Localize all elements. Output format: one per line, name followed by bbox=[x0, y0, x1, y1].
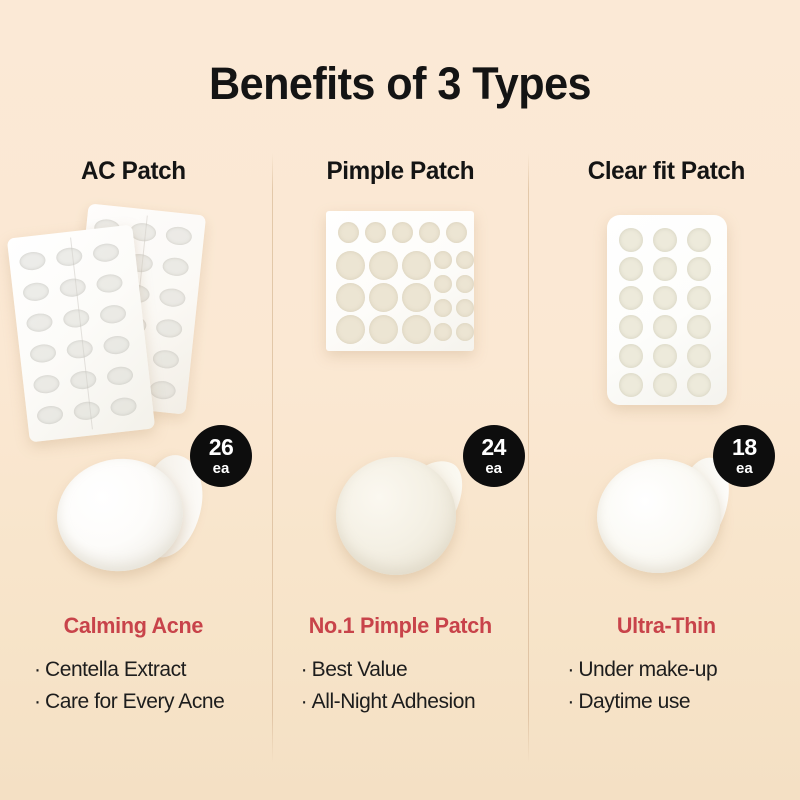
patch-dot bbox=[653, 228, 677, 252]
patch-dot bbox=[653, 373, 677, 397]
patch-dot bbox=[687, 315, 711, 339]
benefit-column-ac-patch: AC Patch 26 ea Cal bbox=[0, 145, 267, 765]
patch-dot bbox=[369, 283, 398, 312]
bullet-marker-icon: · bbox=[301, 686, 312, 718]
feature-bullet-list: ·Centella Extract ·Care for Every Acne bbox=[0, 654, 267, 718]
bullet-marker-icon: · bbox=[34, 654, 45, 686]
patch-dot bbox=[687, 257, 711, 281]
patch-dot bbox=[99, 304, 127, 325]
page-title: Benefits of 3 Types bbox=[16, 58, 784, 110]
patch-dot bbox=[55, 246, 83, 267]
list-item: ·Centella Extract bbox=[34, 654, 267, 686]
product-sheet-photo-ac-patch: 26 ea bbox=[0, 203, 267, 443]
count-badge-unit: ea bbox=[485, 461, 502, 476]
patch-dot bbox=[402, 315, 431, 344]
benefit-column-pimple-patch: Pimple Patch 24 ea No.1 Pimple Patch bbox=[267, 145, 534, 765]
patch-dot bbox=[36, 405, 64, 426]
count-badge-clear-fit-patch: 18 ea bbox=[713, 425, 775, 487]
bullet-marker-icon: · bbox=[567, 654, 578, 686]
patch-dot bbox=[62, 308, 90, 329]
bullet-marker-icon: · bbox=[34, 686, 45, 718]
patch-dot bbox=[336, 283, 365, 312]
patch-dot bbox=[26, 312, 54, 333]
patch-dot bbox=[687, 344, 711, 368]
patch-dot bbox=[653, 344, 677, 368]
patch-dot bbox=[66, 339, 94, 360]
patch-dot bbox=[456, 299, 474, 317]
feature-title: Calming Acne bbox=[3, 613, 264, 639]
list-item: ·Daytime use bbox=[567, 686, 800, 718]
feature-block-ac-patch: Calming Acne ·Centella Extract ·Care for… bbox=[0, 613, 267, 718]
patch-dot bbox=[22, 281, 50, 302]
patch-dot bbox=[73, 400, 101, 421]
patch-sheet bbox=[326, 211, 474, 351]
count-badge-number: 18 bbox=[732, 436, 757, 459]
patch-dot bbox=[434, 299, 452, 317]
feature-bullet-list: ·Best Value ·All-Night Adhesion bbox=[267, 654, 534, 718]
bullet-text: Under make-up bbox=[578, 658, 717, 681]
list-item: ·Care for Every Acne bbox=[34, 686, 267, 718]
patch-dot bbox=[165, 226, 193, 247]
list-item: ·All-Night Adhesion bbox=[301, 686, 534, 718]
column-header-pimple-patch: Pimple Patch bbox=[271, 157, 530, 186]
bullet-text: All-Night Adhesion bbox=[312, 690, 476, 713]
feature-block-pimple-patch: No.1 Pimple Patch ·Best Value ·All-Night… bbox=[267, 613, 534, 718]
patch-dot bbox=[687, 373, 711, 397]
patch-sheet-front bbox=[7, 225, 155, 443]
feature-title: No.1 Pimple Patch bbox=[269, 613, 530, 639]
patch-dot bbox=[59, 277, 87, 298]
patch-dot bbox=[33, 374, 61, 395]
patch-dot bbox=[96, 273, 124, 294]
patch-dot bbox=[419, 222, 440, 243]
patch-dot bbox=[434, 323, 452, 341]
bullet-marker-icon: · bbox=[301, 654, 312, 686]
patch-dot bbox=[619, 344, 643, 368]
column-header-clear-fit-patch: Clear fit Patch bbox=[537, 157, 796, 186]
patch-dot bbox=[434, 275, 452, 293]
benefit-column-clear-fit-patch: Clear fit Patch 18 ea Ultra-Thin ·U bbox=[533, 145, 800, 765]
patch-dot bbox=[653, 286, 677, 310]
patch-sheet bbox=[607, 215, 727, 405]
product-benefits-infographic: Benefits of 3 Types AC Patch 26 ea bbox=[0, 0, 800, 800]
count-badge-number: 24 bbox=[481, 436, 506, 459]
patch-dot bbox=[19, 251, 47, 272]
patch-dot bbox=[29, 343, 57, 364]
patch-dot bbox=[152, 349, 180, 370]
patch-dot bbox=[92, 242, 120, 263]
patch-dot bbox=[456, 275, 474, 293]
list-item: ·Under make-up bbox=[567, 654, 800, 686]
patch-dot bbox=[619, 315, 643, 339]
patch-dot bbox=[155, 318, 183, 339]
patch-dot bbox=[69, 370, 97, 391]
product-sheet-photo-pimple-patch: 24 ea bbox=[267, 203, 534, 443]
patch-dot bbox=[149, 380, 177, 401]
count-badge-unit: ea bbox=[736, 461, 753, 476]
count-badge-pimple-patch: 24 ea bbox=[463, 425, 525, 487]
patch-body bbox=[336, 457, 456, 575]
patch-dot bbox=[434, 251, 452, 269]
patch-dot bbox=[162, 256, 190, 277]
patch-dot bbox=[336, 251, 365, 280]
patch-dot bbox=[103, 335, 131, 356]
patch-dot bbox=[110, 396, 138, 417]
benefit-columns: AC Patch 26 ea Cal bbox=[0, 145, 800, 765]
list-item: ·Best Value bbox=[301, 654, 534, 686]
patch-dot bbox=[106, 365, 134, 386]
patch-dot bbox=[392, 222, 413, 243]
patch-dot bbox=[402, 251, 431, 280]
feature-bullet-list: ·Under make-up ·Daytime use bbox=[533, 654, 800, 718]
bullet-text: Daytime use bbox=[578, 690, 690, 713]
patch-dot bbox=[338, 222, 359, 243]
patch-dot bbox=[159, 287, 187, 308]
bullet-marker-icon: · bbox=[567, 686, 578, 718]
patch-dot bbox=[687, 228, 711, 252]
feature-block-clear-fit-patch: Ultra-Thin ·Under make-up ·Daytime use bbox=[533, 613, 800, 718]
count-badge-ac-patch: 26 ea bbox=[190, 425, 252, 487]
patch-dot bbox=[619, 286, 643, 310]
bullet-text: Centella Extract bbox=[45, 658, 186, 681]
column-header-ac-patch: AC Patch bbox=[4, 157, 263, 186]
bullet-text: Best Value bbox=[312, 658, 408, 681]
product-sheet-photo-clear-fit-patch: 18 ea bbox=[533, 203, 800, 443]
patch-dot bbox=[687, 286, 711, 310]
patch-dot bbox=[619, 373, 643, 397]
patch-dot bbox=[365, 222, 386, 243]
patch-dot bbox=[653, 257, 677, 281]
bullet-text: Care for Every Acne bbox=[45, 690, 224, 713]
patch-dot bbox=[619, 228, 643, 252]
patch-dot bbox=[369, 315, 398, 344]
patch-dot bbox=[456, 323, 474, 341]
patch-dot bbox=[336, 315, 365, 344]
patch-dot bbox=[619, 257, 643, 281]
feature-title: Ultra-Thin bbox=[536, 613, 797, 639]
count-badge-number: 26 bbox=[209, 436, 234, 459]
patch-dot bbox=[402, 283, 431, 312]
patch-dot bbox=[653, 315, 677, 339]
patch-dot bbox=[446, 222, 467, 243]
patch-dot bbox=[456, 251, 474, 269]
count-badge-unit: ea bbox=[213, 461, 230, 476]
patch-dot bbox=[369, 251, 398, 280]
